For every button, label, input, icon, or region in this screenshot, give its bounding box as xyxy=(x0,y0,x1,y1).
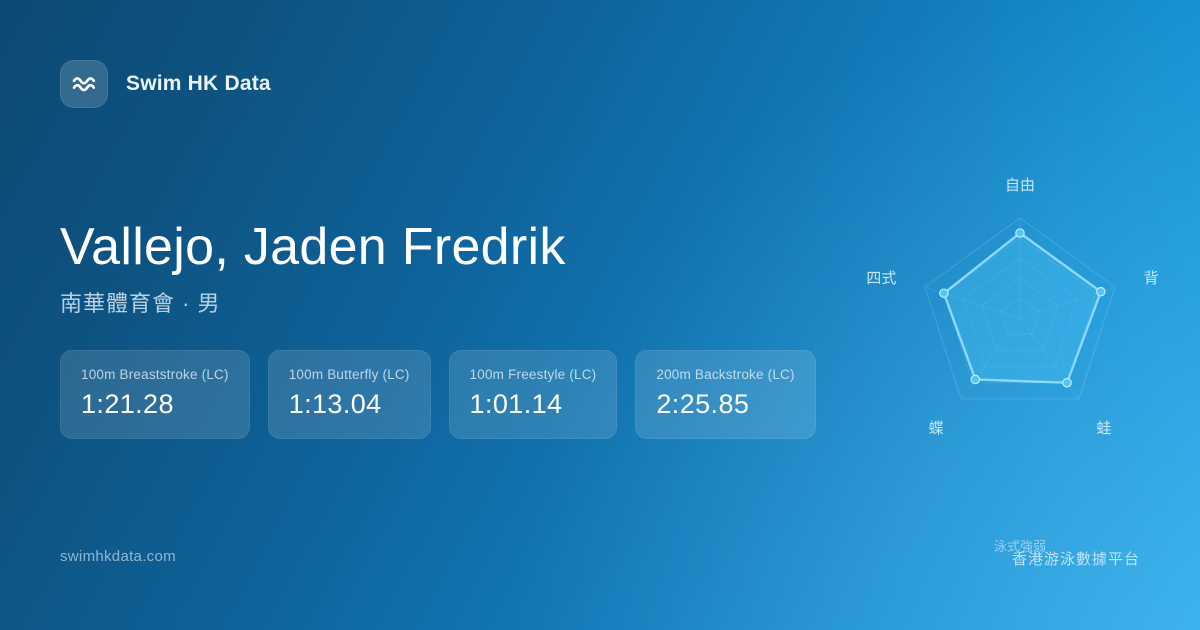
stat-value: 2:25.85 xyxy=(656,389,794,420)
stat-card: 100m Butterfly (LC) 1:13.04 xyxy=(268,350,431,439)
radar-data-point xyxy=(1063,379,1071,387)
stat-card: 100m Freestyle (LC) 1:01.14 xyxy=(449,350,618,439)
radar-axis-label: 四式 xyxy=(866,270,896,287)
radar-data-point xyxy=(1016,229,1024,237)
radar-axis-label: 自由 xyxy=(1005,177,1035,194)
radar-data-point xyxy=(1097,288,1105,296)
stat-value: 1:13.04 xyxy=(289,389,410,420)
athlete-block: Vallejo, Jaden Fredrik 南華體育會 · 男 xyxy=(60,218,566,318)
brand-name: Swim HK Data xyxy=(126,72,271,96)
stat-card: 100m Breaststroke (LC) 1:21.28 xyxy=(60,350,250,439)
radar-chart: 自由背蛙蝶四式泳式強弱 xyxy=(870,168,1170,468)
wave-approx-icon xyxy=(60,60,108,108)
radar-data-polygon xyxy=(944,233,1101,383)
radar-axis-label: 背 xyxy=(1144,270,1159,287)
footer-site-url: swimhkdata.com xyxy=(60,548,176,565)
stat-label: 100m Freestyle (LC) xyxy=(470,367,597,382)
brand-header: Swim HK Data xyxy=(60,60,271,108)
stat-label: 100m Breaststroke (LC) xyxy=(81,367,229,382)
stat-card-list: 100m Breaststroke (LC) 1:21.28 100m Butt… xyxy=(60,350,816,439)
stat-value: 1:01.14 xyxy=(470,389,597,420)
stat-label: 100m Butterfly (LC) xyxy=(289,367,410,382)
stat-value: 1:21.28 xyxy=(81,389,229,420)
footer-tagline: 香港游泳數據平台 xyxy=(1012,548,1140,569)
radar-axis-label: 蛙 xyxy=(1096,420,1111,437)
stat-label: 200m Backstroke (LC) xyxy=(656,367,794,382)
stat-card: 200m Backstroke (LC) 2:25.85 xyxy=(635,350,815,439)
radar-data-point xyxy=(971,375,979,383)
social-share-card: Swim HK Data Vallejo, Jaden Fredrik 南華體育… xyxy=(0,0,1200,630)
radar-chart-svg: 自由背蛙蝶四式泳式強弱 xyxy=(870,168,1170,468)
radar-axis-label: 蝶 xyxy=(929,420,944,437)
athlete-meta: 南華體育會 · 男 xyxy=(60,286,566,318)
page-title: Vallejo, Jaden Fredrik xyxy=(60,218,566,276)
radar-data-point xyxy=(940,289,948,297)
